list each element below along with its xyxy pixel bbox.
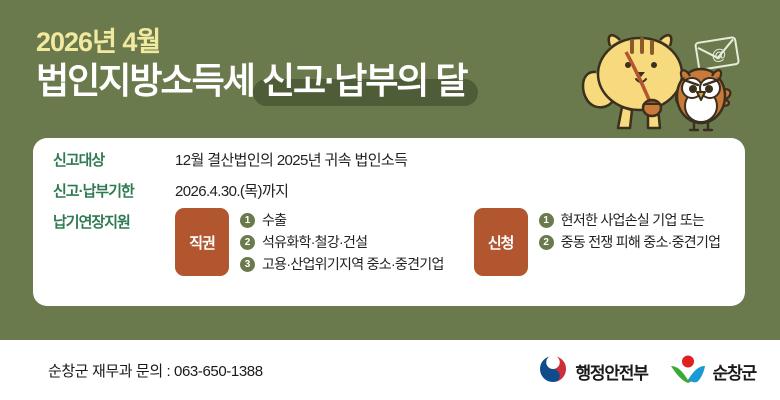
number-badge: 2 [539,235,554,250]
list-item-label: 중동 전쟁 피해 중소·중견기업 [561,232,721,252]
list-item-label: 현저한 사업손실 기업 또는 [561,210,705,230]
footer-logo-group: 행정안전부 순창군 [538,354,756,389]
sunchang-emblem-icon [670,354,706,389]
number-badge: 2 [240,235,255,250]
info-row-target: 신고대상 12월 결산법인의 2025년 귀속 법인소득 [53,151,407,171]
contact-info: 순창군 재무과 문의 : 063-650-1388 [48,360,263,381]
list-item: 3 고용·산업위기지역 중소·중견기업 [240,253,444,275]
info-label-target: 신고대상 [53,151,175,171]
extension-list-application: 1 현저한 사업손실 기업 또는 2 중동 전쟁 피해 중소·중견기업 [539,208,721,276]
tax-notice-banner: 2026년 4월 법인지방소득세 신고·납부의 달 @ [0,0,780,400]
info-row-deadline: 신고·납부기한 2026.4.30.(목)까지 [53,182,288,202]
owl-mascot [676,69,730,130]
logo-mois: 행정안전부 [538,354,647,389]
squirrel-mascot [583,35,682,128]
extension-tag-automatic: 직권 [175,208,229,276]
headline-title-highlight: 신고·납부의 달 [262,62,467,101]
list-item: 2 석유화학·철강·건설 [240,231,444,253]
info-row-extension: 납기연장지원 [53,213,175,233]
list-item: 1 현저한 사업손실 기업 또는 [539,209,721,231]
mascot-group: @ [578,8,780,140]
info-value-deadline: 2026.4.30.(목)까지 [175,182,288,202]
number-badge: 1 [539,213,554,228]
info-label-deadline: 신고·납부기한 [53,182,175,202]
list-item-label: 수출 [262,210,286,230]
logo-label-sunchang: 순창군 [713,359,756,384]
info-value-target: 12월 결산법인의 2025년 귀속 법인소득 [175,151,407,171]
extension-list-automatic: 1 수출 2 석유화학·철강·건설 3 고용·산업위기지역 중소·중견기업 [240,208,444,276]
envelope-at-icon: @ [695,37,739,70]
list-item-label: 고용·산업위기지역 중소·중견기업 [262,254,444,274]
number-badge: 3 [240,257,255,272]
number-badge: 1 [240,213,255,228]
logo-label-mois: 행정안전부 [575,359,647,384]
list-item-label: 석유화학·철강·건설 [262,232,367,252]
svg-text:@: @ [710,46,728,65]
headline-title: 법인지방소득세 신고·납부의 달 [36,62,467,101]
info-label-extension: 납기연장지원 [53,213,175,233]
headline-title-plain: 법인지방소득세 [36,60,262,101]
extension-tag-application: 신청 [474,208,528,276]
list-item: 2 중동 전쟁 피해 중소·중견기업 [539,231,721,253]
extension-groups: 직권 1 수출 2 석유화학·철강·건설 3 고용·산업위기지역 중소·중견기업 [175,208,720,276]
footer-bar: 순창군 재무과 문의 : 063-650-1388 행정안전부 [0,340,780,400]
taegeuk-icon [538,354,568,389]
info-card: 신고대상 12월 결산법인의 2025년 귀속 법인소득 신고·납부기한 202… [33,138,745,306]
extension-group-automatic: 직권 1 수출 2 석유화학·철강·건설 3 고용·산업위기지역 중소·중견기업 [175,208,444,276]
headline-block: 2026년 4월 법인지방소득세 신고·납부의 달 [36,28,467,101]
logo-sunchang: 순창군 [670,354,756,389]
extension-group-application: 신청 1 현저한 사업손실 기업 또는 2 중동 전쟁 피해 중소·중견기업 [474,208,721,276]
headline-subtitle: 2026년 4월 [36,28,467,56]
list-item: 1 수출 [240,209,444,231]
